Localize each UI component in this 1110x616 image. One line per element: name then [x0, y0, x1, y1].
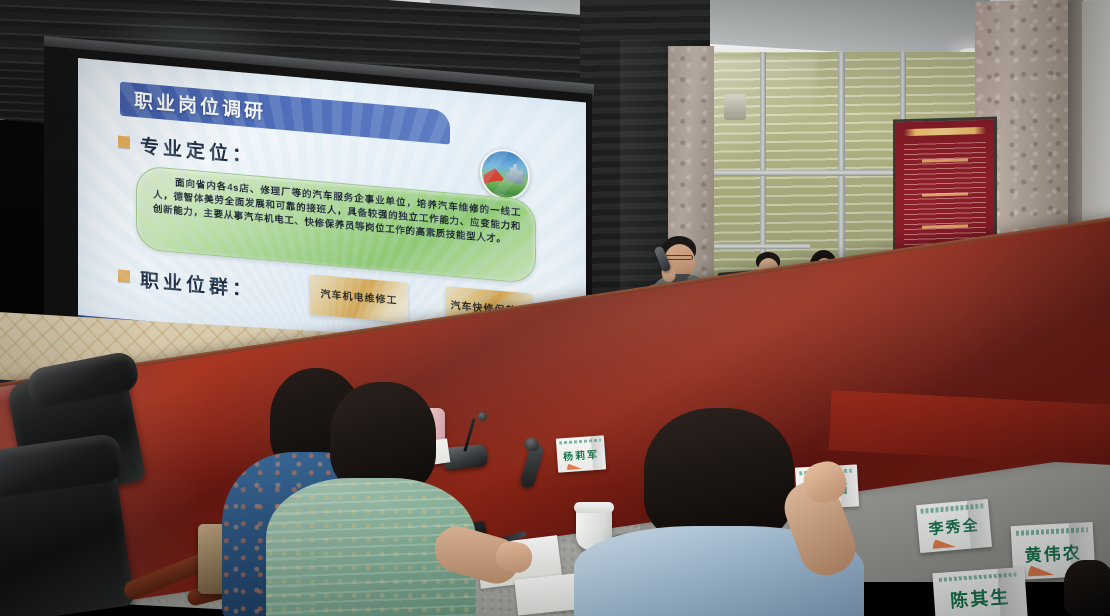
wall-sconce [724, 94, 746, 120]
slide-bullet-2: 职业位群： [140, 265, 255, 302]
poster-body-text [904, 142, 986, 252]
slide-title: 职业岗位调研 [134, 86, 266, 125]
presenter-glasses-icon [665, 255, 693, 260]
foreground-attendee-blue-shirt [608, 408, 858, 616]
slide-body-box: 面向省内各4s店、修理厂等的汽车服务企事业单位，培养汽车维修的一线工人，德智体美… [136, 165, 536, 284]
foreground-attendee-hair [644, 408, 794, 542]
nameplate: 陈其生 [932, 567, 1027, 616]
nameplate-fold [967, 499, 992, 549]
position-box-1: 汽车机电维修工 [310, 274, 408, 323]
poster-title-band [904, 127, 986, 136]
seated-attendee-edge [1064, 560, 1110, 616]
bullet-square-icon [118, 269, 130, 282]
slide-body-text: 面向省内各4s店、修理厂等的汽车服务企事业单位，培养汽车维修的一线工人，德智体美… [153, 175, 521, 250]
nameplate-fold [998, 567, 1028, 616]
bullet-square-icon [118, 135, 130, 148]
slide-bullet-1: 专业定位： [140, 131, 255, 168]
position-box-1-label: 汽车机电维修工 [321, 288, 398, 309]
nameplate: 杨莉军 [556, 435, 606, 472]
institution-logo-icon [480, 147, 530, 201]
note-taker-teal-top [298, 382, 498, 616]
nameplate: 李秀全 [916, 499, 992, 553]
attendee-hair [1064, 560, 1110, 616]
presentation-room-photo: 职业岗位调研 专业定位： 面向省内各4s店、修理厂等的汽车服务企事业单位，培养汽… [0, 0, 1110, 616]
nameplate-fold [590, 435, 606, 470]
